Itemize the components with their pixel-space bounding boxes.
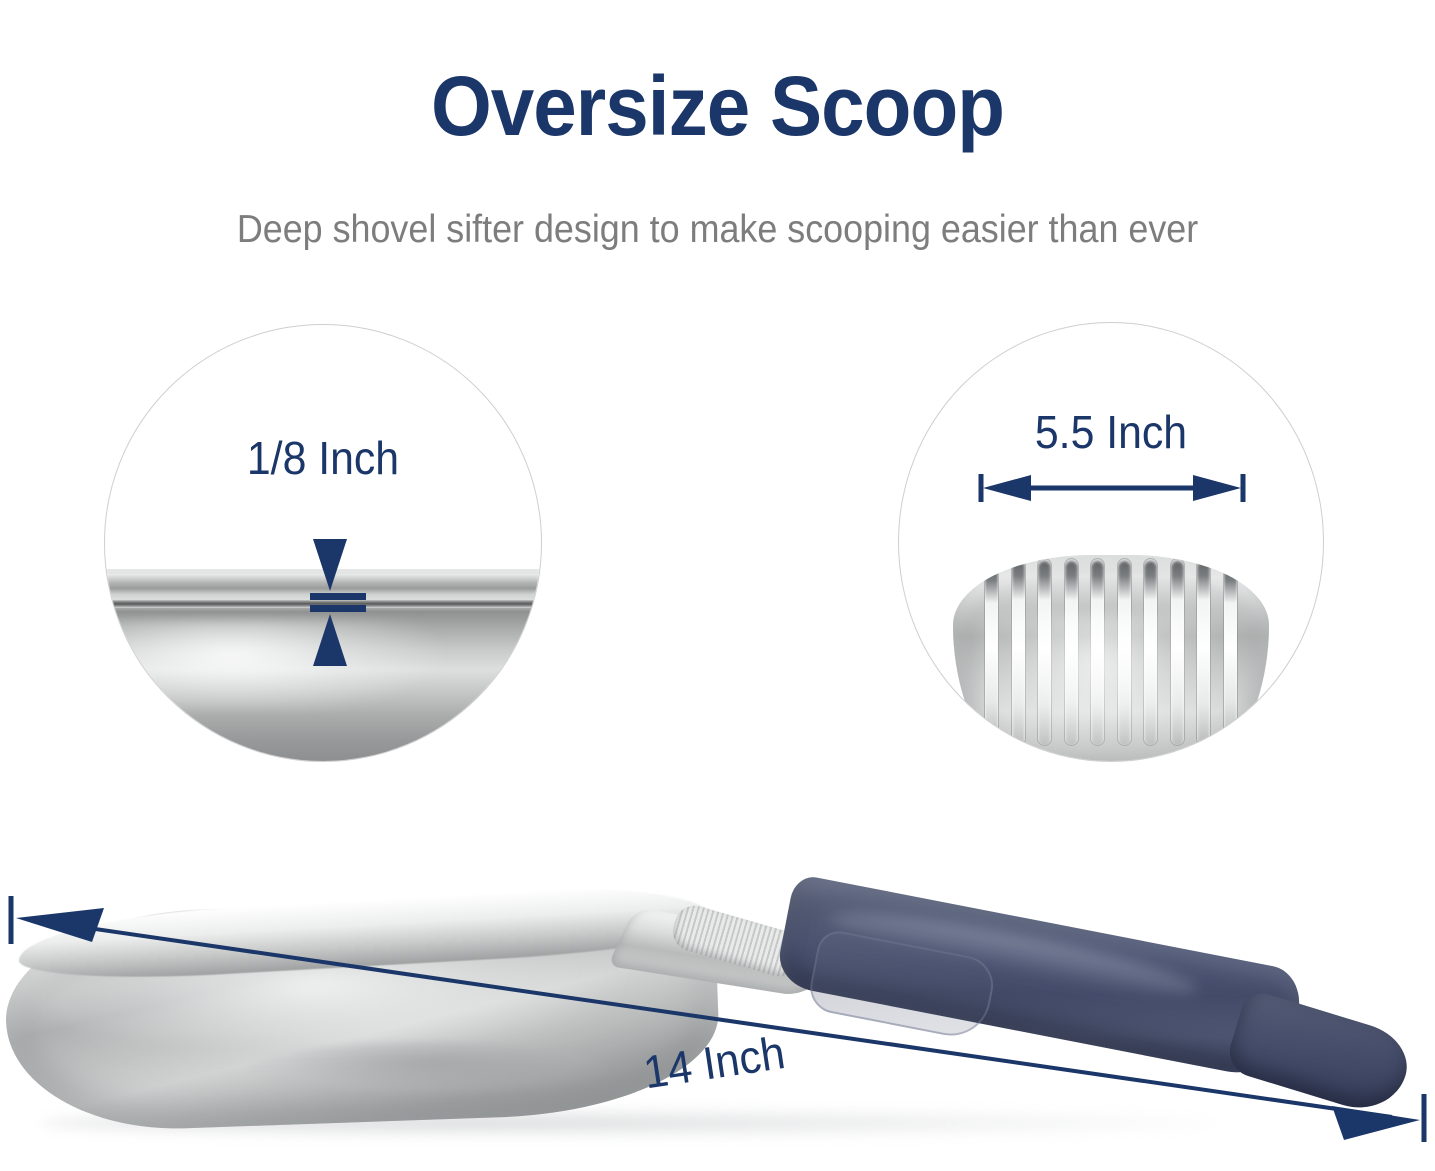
caliper-bars-icon bbox=[310, 593, 366, 612]
sifter-slot bbox=[985, 565, 998, 740]
sifter-slot bbox=[1118, 559, 1131, 745]
sifter-slot bbox=[1012, 559, 1025, 745]
infographic-page: Oversize Scoop Deep shovel sifter design… bbox=[0, 0, 1435, 1171]
sifter-slot bbox=[1038, 559, 1051, 745]
callout-width-label: 5.5 Inch bbox=[914, 405, 1308, 459]
sifter-slot bbox=[1171, 559, 1184, 745]
callout-thickness-label: 1/8 Inch bbox=[120, 431, 525, 485]
sifter-slots bbox=[985, 559, 1237, 745]
sifter-slot bbox=[1197, 559, 1210, 745]
caliper-arrow-down-icon bbox=[313, 539, 347, 591]
slotted-sifter-head-photo bbox=[953, 555, 1269, 762]
double-arrow-icon bbox=[977, 471, 1247, 505]
sifter-slot bbox=[1091, 559, 1104, 745]
thickness-caliper-icon bbox=[310, 539, 350, 666]
caliper-arrow-up-icon bbox=[313, 614, 347, 666]
sifter-slot bbox=[1224, 565, 1237, 740]
page-title: Oversize Scoop bbox=[50, 62, 1385, 150]
page-subtitle: Deep shovel sifter design to make scoopi… bbox=[57, 209, 1377, 252]
callout-width: 5.5 Inch bbox=[898, 322, 1324, 762]
sifter-slot bbox=[1065, 559, 1078, 745]
sifter-slot bbox=[1144, 559, 1157, 745]
length-double-arrow-icon bbox=[0, 856, 1435, 1171]
callout-thickness: 1/8 Inch bbox=[104, 324, 542, 762]
